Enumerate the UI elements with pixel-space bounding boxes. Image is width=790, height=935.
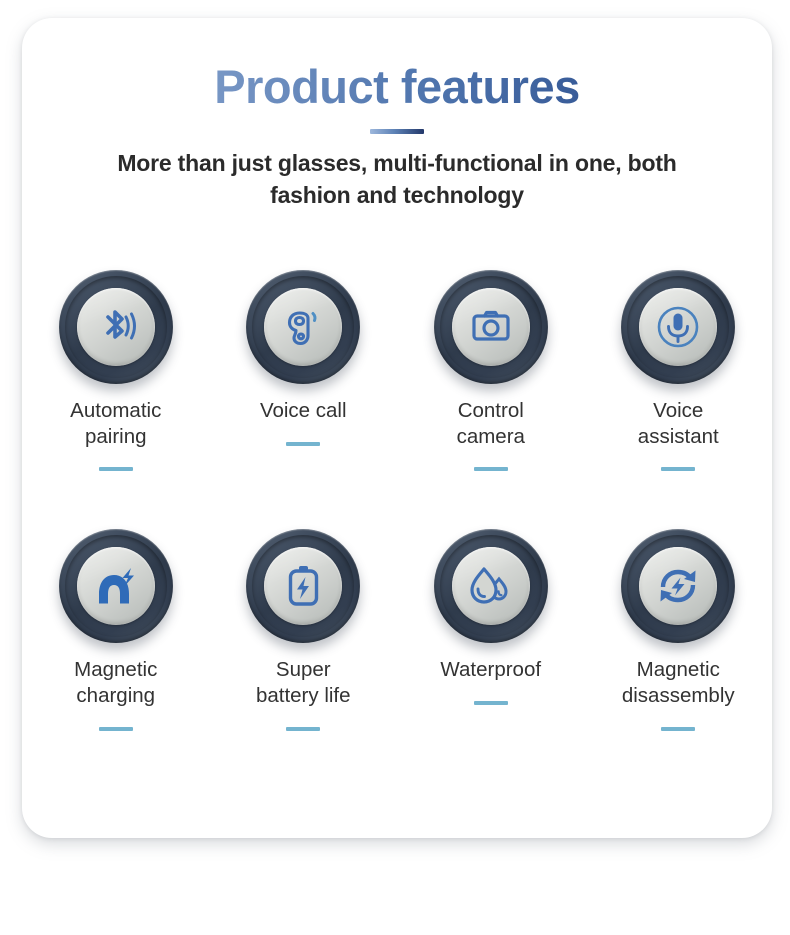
- camera-icon: [467, 303, 515, 351]
- knob-face: [77, 547, 155, 625]
- page-root: Product features More than just glasses,…: [0, 0, 790, 935]
- icon-knob[interactable]: [246, 270, 360, 384]
- knob-face: [639, 547, 717, 625]
- feature-dash: [661, 727, 695, 731]
- icon-knob[interactable]: [621, 270, 735, 384]
- feature-dash: [286, 442, 320, 446]
- feature-label: Control camera: [408, 398, 573, 449]
- feature-dash: [286, 727, 320, 731]
- knob-face: [77, 288, 155, 366]
- magnet-bolt-icon: [91, 562, 141, 610]
- page-title: Product features: [22, 18, 772, 111]
- feature-item-magnetic-charging[interactable]: Magnetic charging: [22, 529, 210, 730]
- feature-label: Magnetic charging: [33, 657, 198, 708]
- icon-knob[interactable]: [621, 529, 735, 643]
- feature-item-control-camera[interactable]: Control camera: [397, 270, 585, 471]
- title-divider: [370, 129, 424, 134]
- feature-item-waterproof[interactable]: Waterproof: [397, 529, 585, 730]
- phone-call-icon: [280, 304, 326, 350]
- icon-knob[interactable]: [434, 270, 548, 384]
- knob-face: [452, 288, 530, 366]
- knob-face: [264, 288, 342, 366]
- feature-dash: [474, 467, 508, 471]
- feature-item-voice-call[interactable]: Voice call: [210, 270, 398, 471]
- feature-item-magnetic-disassembly[interactable]: Magnetic disassembly: [585, 529, 773, 730]
- feature-item-voice-assistant[interactable]: Voice assistant: [585, 270, 773, 471]
- microphone-icon: [652, 301, 704, 353]
- feature-dash: [99, 467, 133, 471]
- feature-label: Automatic pairing: [33, 398, 198, 449]
- bluetooth-icon: [93, 304, 139, 350]
- battery-bolt-icon: [280, 561, 326, 611]
- feature-label: Voice assistant: [596, 398, 761, 449]
- product-features-card: Product features More than just glasses,…: [22, 18, 772, 838]
- icon-knob[interactable]: [59, 270, 173, 384]
- card-header: Product features More than just glasses,…: [22, 18, 772, 212]
- feature-label: Magnetic disassembly: [596, 657, 761, 708]
- feature-label: Voice call: [221, 398, 386, 424]
- refresh-bolt-icon: [653, 561, 703, 611]
- feature-grid: Automatic pairing Voice call: [22, 270, 772, 731]
- feature-item-super-battery-life[interactable]: Super battery life: [210, 529, 398, 730]
- knob-face: [452, 547, 530, 625]
- feature-dash: [661, 467, 695, 471]
- knob-face: [264, 547, 342, 625]
- feature-label: Super battery life: [221, 657, 386, 708]
- feature-item-automatic-pairing[interactable]: Automatic pairing: [22, 270, 210, 471]
- icon-knob[interactable]: [434, 529, 548, 643]
- icon-knob[interactable]: [59, 529, 173, 643]
- icon-knob[interactable]: [246, 529, 360, 643]
- feature-dash: [474, 701, 508, 705]
- water-drops-icon: [465, 562, 517, 610]
- feature-label: Waterproof: [408, 657, 573, 683]
- page-subtitle: More than just glasses, multi-functional…: [117, 148, 677, 211]
- knob-face: [639, 288, 717, 366]
- feature-dash: [99, 727, 133, 731]
